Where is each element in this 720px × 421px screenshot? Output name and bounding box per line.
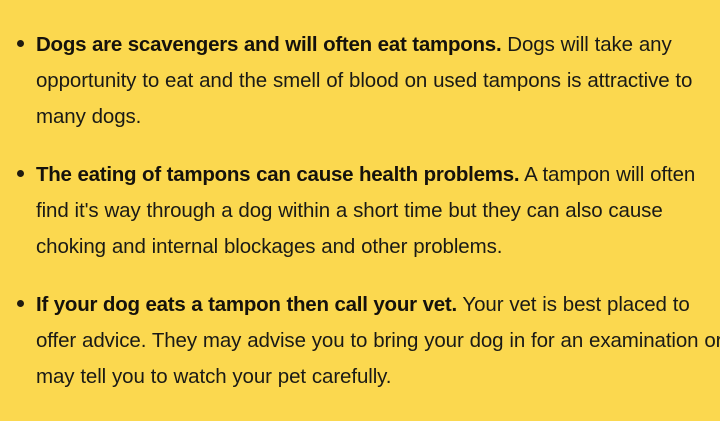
bullet-dot-icon: [17, 40, 24, 47]
list-item: The eating of tampons can cause health p…: [0, 157, 720, 265]
bullet-text: If your dog eats a tampon then call your…: [36, 287, 720, 395]
list-item: If your dog eats a tampon then call your…: [0, 287, 720, 395]
bullet-lead-text: The eating of tampons can cause health p…: [36, 163, 519, 186]
bullet-text: The eating of tampons can cause health p…: [36, 157, 720, 265]
bullet-dot-icon: [17, 300, 24, 307]
bullet-text: Dogs are scavengers and will often eat t…: [36, 27, 720, 135]
bullet-dot-icon: [17, 170, 24, 177]
bullet-lead-text: If your dog eats a tampon then call your…: [36, 293, 457, 316]
info-graphic-card: Dogs are scavengers and will often eat t…: [0, 0, 720, 421]
bullet-lead-text: Dogs are scavengers and will often eat t…: [36, 33, 501, 56]
list-item: Dogs are scavengers and will often eat t…: [0, 27, 720, 135]
tips-bullet-list: Dogs are scavengers and will often eat t…: [0, 27, 720, 395]
